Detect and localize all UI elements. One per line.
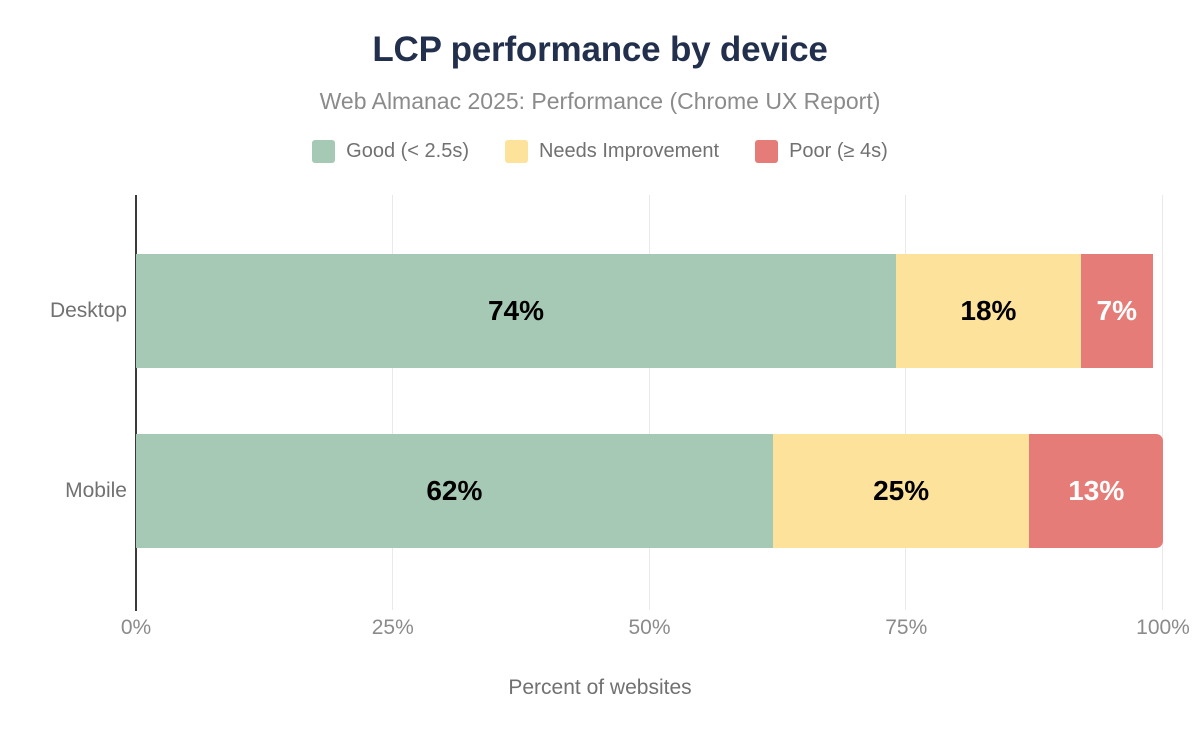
y-axis-label: Mobile bbox=[0, 479, 127, 503]
plot-area: 74%18%7%62%25%13% bbox=[136, 195, 1163, 610]
x-axis-tick-label: 0% bbox=[56, 616, 216, 640]
legend-item[interactable]: Needs Improvement bbox=[505, 140, 719, 163]
legend-swatch-icon bbox=[505, 140, 528, 163]
bar-segment-label: 7% bbox=[1097, 297, 1137, 325]
x-axis-tick-label: 50% bbox=[570, 616, 730, 640]
bar-segment-label: 13% bbox=[1068, 477, 1124, 505]
page-title: LCP performance by device bbox=[0, 30, 1200, 70]
bar-segment[interactable]: 25% bbox=[773, 434, 1030, 548]
bar-segment[interactable]: 74% bbox=[136, 254, 896, 368]
x-axis-tick-label: 100% bbox=[1083, 616, 1200, 640]
bar-segment[interactable]: 7% bbox=[1081, 254, 1153, 368]
bar-segment-label: 18% bbox=[960, 297, 1016, 325]
legend-swatch-icon bbox=[312, 140, 335, 163]
legend-item[interactable]: Good (< 2.5s) bbox=[312, 140, 469, 163]
bar-segment[interactable]: 62% bbox=[136, 434, 773, 548]
bar-segment[interactable]: 18% bbox=[896, 254, 1081, 368]
x-axis-title: Percent of websites bbox=[0, 676, 1200, 700]
legend-item[interactable]: Poor (≥ 4s) bbox=[755, 140, 888, 163]
bar-row: 74%18%7% bbox=[136, 254, 1163, 368]
stacked-bar: 74%18%7% bbox=[136, 254, 1163, 368]
x-axis-tick-label: 25% bbox=[313, 616, 473, 640]
stacked-bar: 62%25%13% bbox=[136, 434, 1163, 548]
bar-segment-label: 74% bbox=[488, 297, 544, 325]
chart-legend: Good (< 2.5s)Needs ImprovementPoor (≥ 4s… bbox=[0, 140, 1200, 163]
bar-segment-label: 62% bbox=[426, 477, 482, 505]
chart-subtitle: Web Almanac 2025: Performance (Chrome UX… bbox=[0, 88, 1200, 115]
bar-row: 62%25%13% bbox=[136, 434, 1163, 548]
bar-segment-label: 25% bbox=[873, 477, 929, 505]
bar-segment[interactable]: 13% bbox=[1029, 434, 1163, 548]
legend-swatch-icon bbox=[755, 140, 778, 163]
legend-item-label: Needs Improvement bbox=[539, 140, 719, 163]
legend-item-label: Poor (≥ 4s) bbox=[789, 140, 888, 163]
y-axis-label: Desktop bbox=[0, 299, 127, 323]
x-axis-tick-label: 75% bbox=[826, 616, 986, 640]
legend-item-label: Good (< 2.5s) bbox=[346, 140, 469, 163]
